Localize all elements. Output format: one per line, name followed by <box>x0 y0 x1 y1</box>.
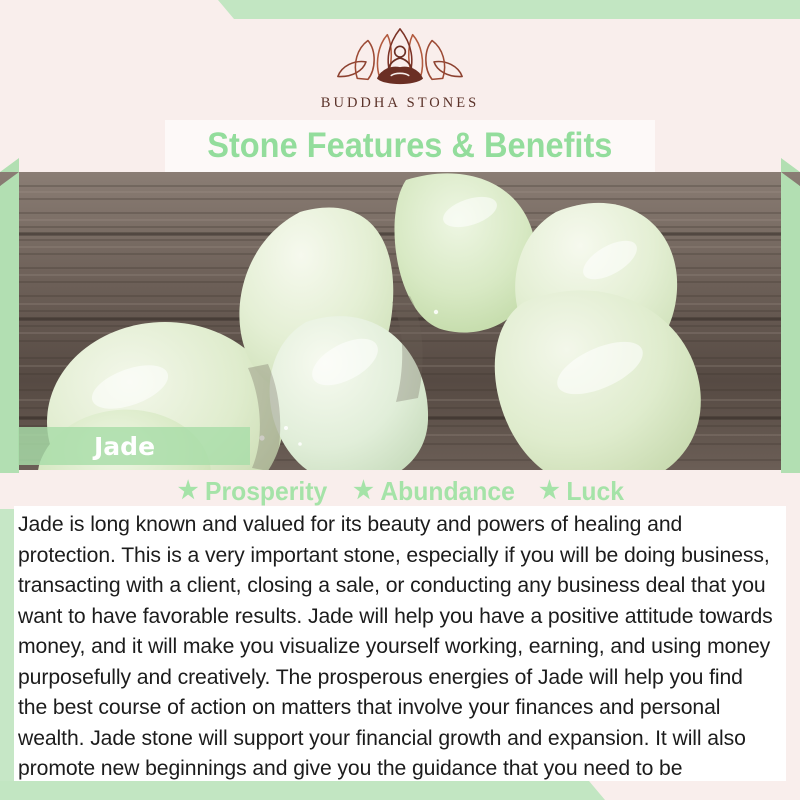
benefit-label: Prosperity <box>205 476 327 507</box>
page-title: Stone Features & Benefits <box>207 126 612 166</box>
decor-green-bar-right-overlay <box>781 172 800 470</box>
benefit-item-prosperity: ★ Prosperity <box>178 476 327 507</box>
description-text: Jade is long known and valued for its be… <box>18 509 776 800</box>
section-title-band: Stone Features & Benefits <box>165 120 655 172</box>
benefit-item-abundance: ★ Abundance <box>353 476 515 507</box>
benefit-item-luck: ★ Luck <box>539 476 624 507</box>
brand-logo: BUDDHA STONES <box>321 24 479 112</box>
benefit-label: Abundance <box>380 476 514 507</box>
brand-header: BUDDHA STONES <box>0 0 800 120</box>
decor-green-strip-left-lower <box>0 488 14 788</box>
stone-name-band: Jade <box>18 427 250 465</box>
star-icon: ★ <box>353 479 373 503</box>
star-icon: ★ <box>178 479 198 503</box>
decor-green-bar-left-overlay <box>0 172 19 470</box>
promo-card: BUDDHA STONES Stone Features & Benefits <box>0 0 800 800</box>
lotus-meditation-icon <box>325 24 475 92</box>
benefit-label: Luck <box>566 476 624 507</box>
stone-name: Jade <box>94 432 155 461</box>
star-icon: ★ <box>539 479 559 503</box>
benefits-row: ★ Prosperity ★ Abundance ★ Luck <box>0 473 800 509</box>
brand-name: BUDDHA STONES <box>321 95 479 112</box>
stone-photo <box>0 172 800 470</box>
